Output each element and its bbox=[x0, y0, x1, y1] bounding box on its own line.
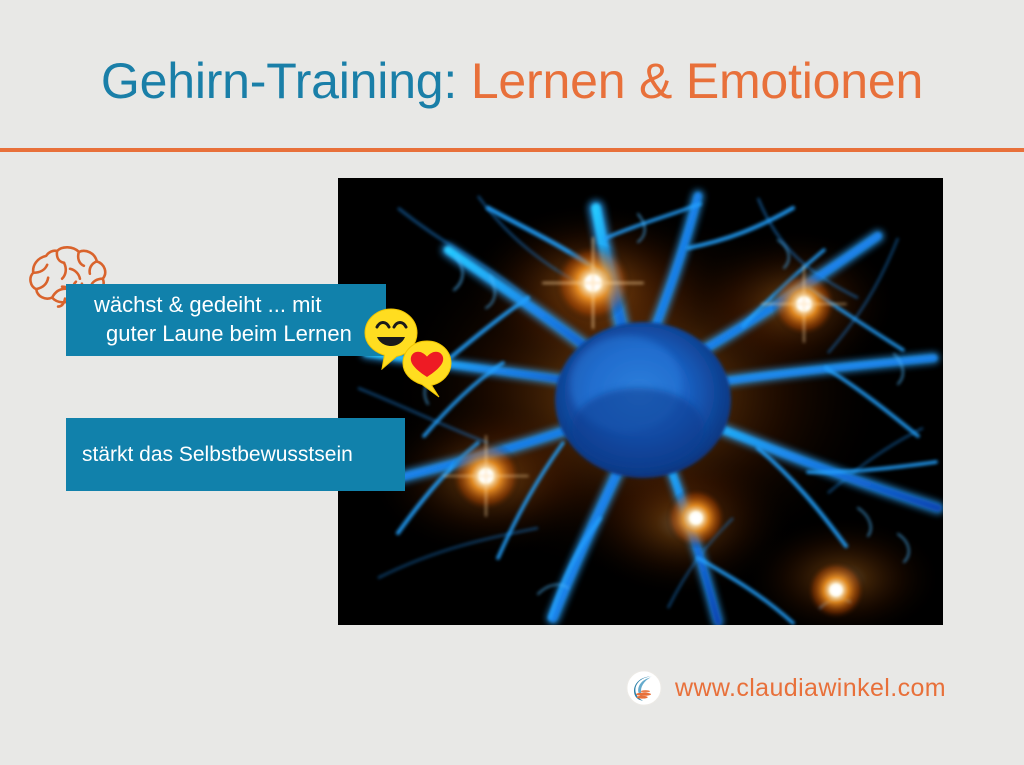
title-text: Gehirn-Training: Lernen & Emotionen bbox=[101, 56, 923, 106]
callout-box-learning: wächst & gedeiht ... mit guter Laune bei… bbox=[66, 284, 386, 356]
slide-canvas: Gehirn-Training: Lernen & Emotionen bbox=[0, 0, 1024, 765]
callout-1-line-1: wächst & gedeiht ... mit bbox=[94, 290, 372, 319]
callout-2-line-1: stärkt das Selbstbewusstsein bbox=[82, 443, 353, 467]
title-segment-accent: Lernen & Emotionen bbox=[471, 53, 923, 109]
title-divider-rule bbox=[0, 148, 1024, 152]
footer: www.claudiawinkel.com bbox=[626, 666, 946, 710]
title-segment-primary: Gehirn-Training: bbox=[101, 53, 471, 109]
neuron-illustration bbox=[338, 178, 943, 625]
callout-box-confidence: stärkt das Selbstbewusstsein bbox=[66, 418, 405, 491]
page-title: Gehirn-Training: Lernen & Emotionen bbox=[0, 44, 1024, 118]
neuron-image bbox=[338, 178, 943, 625]
website-url[interactable]: www.claudiawinkel.com bbox=[675, 674, 946, 703]
heart-icon-svg bbox=[402, 340, 452, 398]
claudiawinkel-logo-icon bbox=[626, 670, 662, 706]
heart-speech-bubble-icon bbox=[402, 340, 452, 398]
callout-1-line-2: guter Laune beim Lernen bbox=[94, 319, 372, 348]
